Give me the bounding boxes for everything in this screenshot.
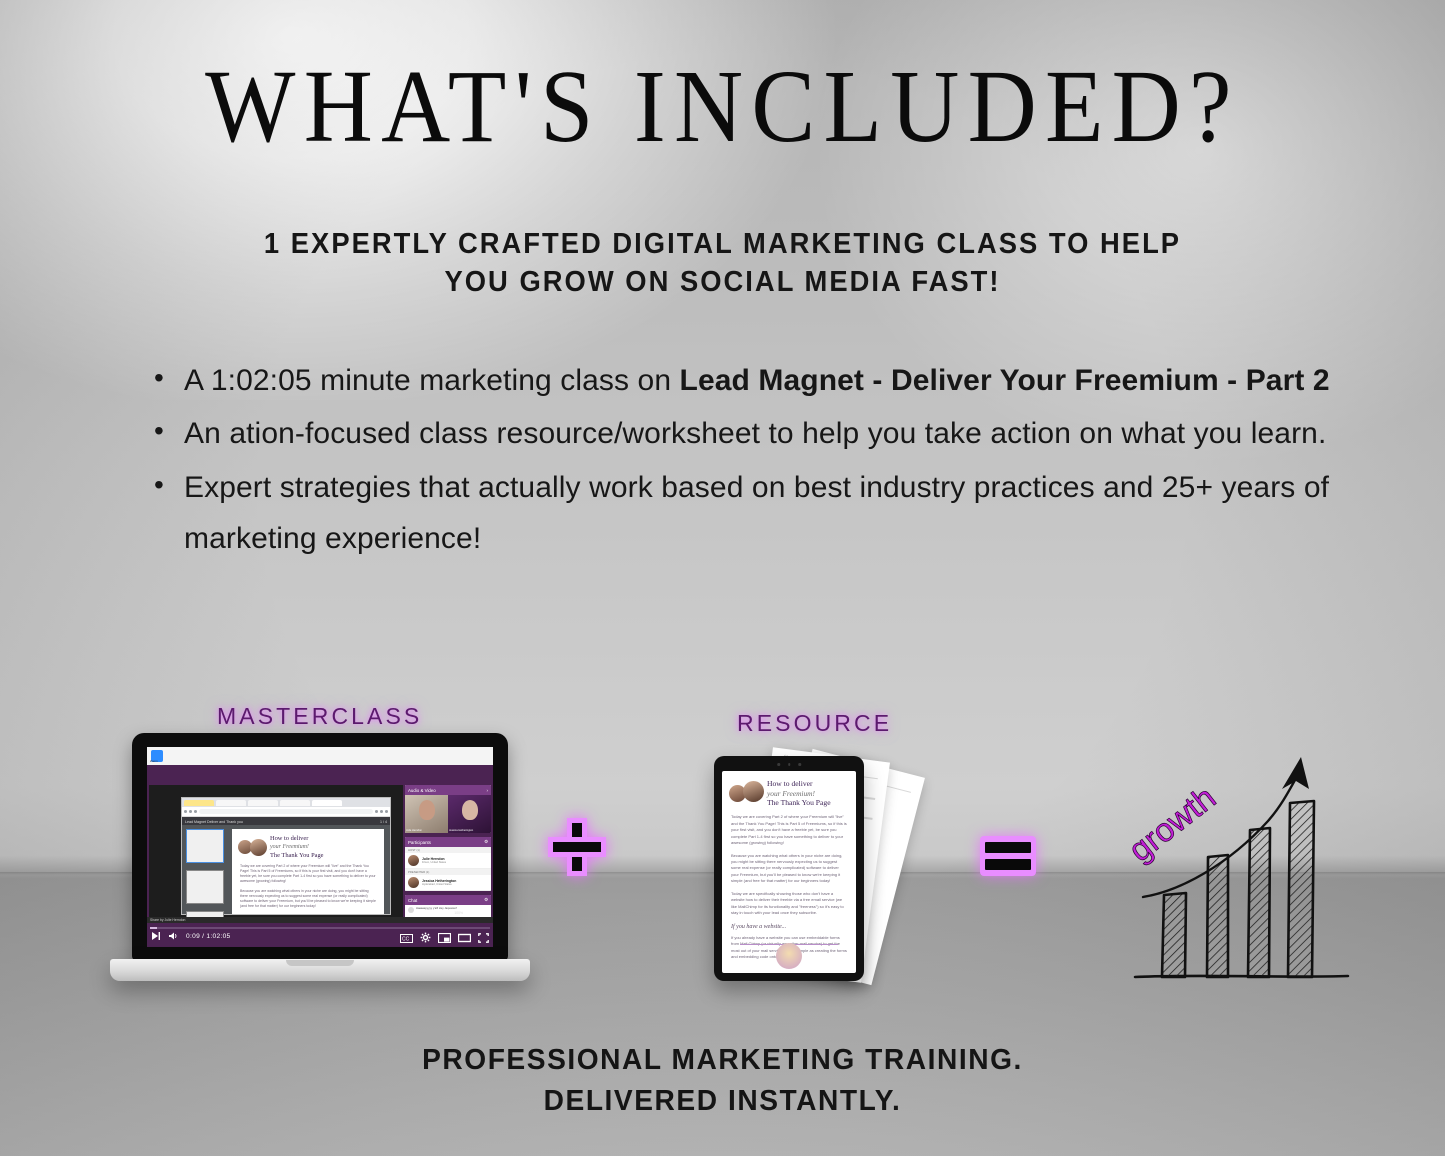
participant-face xyxy=(419,800,435,820)
bullet-text-plain: A 1:02:05 minute marketing class on xyxy=(184,364,680,397)
chart-annotation-growth: growth xyxy=(1122,778,1223,868)
pdf-title: Lead Magnet Deliver and Thank you xyxy=(185,820,243,824)
browser-tab[interactable] xyxy=(184,800,214,806)
feature-list: A 1:02:05 minute marketing class on Lead… xyxy=(148,355,1363,566)
list-item: A 1:02:05 minute marketing class on Lead… xyxy=(180,355,1363,406)
brand-logo xyxy=(776,943,802,969)
laptop-mockup: Zoom ID: 225-207-258 xyxy=(110,733,530,993)
tablet-screen: How to deliver your Freemium! The Thank … xyxy=(722,771,856,973)
closed-captions-icon[interactable]: CC xyxy=(400,930,413,947)
volume-icon[interactable] xyxy=(168,931,179,941)
label-resource: RESOURCE xyxy=(737,710,892,737)
panel-header: Participants ⚙ xyxy=(405,837,491,847)
video-tile-name: Julie Herndon xyxy=(406,829,422,832)
chart-bar xyxy=(1207,855,1228,977)
pdf-thumbnail-rail[interactable] xyxy=(182,825,232,914)
avatar xyxy=(408,855,419,866)
video-tile-host[interactable]: Julie Herndon xyxy=(405,795,448,833)
doc-header: How to deliver your Freemium! The Thank … xyxy=(232,829,384,862)
avatar xyxy=(408,907,414,913)
pdf-page: How to deliver your Freemium! The Thank … xyxy=(232,829,384,914)
equals-operator-icon xyxy=(980,836,1036,876)
pdf-viewer: How to deliver your Freemium! The Thank … xyxy=(182,825,390,914)
panel-title: Participants xyxy=(408,840,431,845)
app-name-label: Zoom xyxy=(150,759,158,763)
worksheet-header: How to deliver your Freemium! The Thank … xyxy=(722,771,856,811)
doc-title-line-2: The Thank You Page xyxy=(270,852,324,859)
avatar xyxy=(408,877,419,888)
worksheet-signature-line: If you have a website... xyxy=(722,920,856,932)
fullscreen-icon[interactable] xyxy=(478,930,489,947)
app-titlebar: Zoom xyxy=(147,747,493,765)
browser-tab-active[interactable] xyxy=(312,800,342,806)
chat-text: Haaaaayyyyy y'all! Hey Jaquaree!! xyxy=(416,907,457,913)
laptop-screen: Zoom ID: 225-207-258 xyxy=(147,747,493,947)
doc-title-script: your Freemium! xyxy=(270,844,309,850)
meeting-window: ID: 225-207-258 xyxy=(147,765,493,947)
plus-icon xyxy=(548,818,606,876)
chart-arrowhead xyxy=(1282,757,1309,789)
url-input[interactable] xyxy=(199,809,373,814)
browser-window: Lead Magnet Deliver and Thank you 1 / 4 xyxy=(181,797,391,915)
doc-paragraph: Today we are specifically showing those … xyxy=(232,912,384,915)
extension-icon[interactable] xyxy=(375,810,378,813)
worksheet-title-line-1: How to deliver xyxy=(767,779,813,788)
panel-audio-video: Audio & Video › Julie Herndon xyxy=(405,785,491,833)
picture-in-picture-icon[interactable] xyxy=(438,930,451,947)
reload-icon[interactable] xyxy=(194,810,197,813)
page-title: WHAT'S INCLUDED? xyxy=(58,52,1387,162)
bullet-text-plain: An ation-focused class resource/workshee… xyxy=(184,417,1326,450)
doc-paragraph: Because you are watching what others in … xyxy=(232,887,384,912)
subheadline-line-1: 1 EXPERTLY CRAFTED DIGITAL MARKETING CLA… xyxy=(144,226,1301,264)
poster-canvas: WHAT'S INCLUDED? 1 EXPERTLY CRAFTED DIGI… xyxy=(0,0,1445,1156)
worksheet-title-line-2: The Thank You Page xyxy=(767,798,831,807)
video-player-controls[interactable]: Share by Julie Herndon 100% 0:09 / 1:02:… xyxy=(147,923,493,947)
avatar xyxy=(743,781,764,802)
gear-icon[interactable]: ⚙ xyxy=(484,839,488,845)
footer-line-1: PROFESSIONAL MARKETING TRAINING. xyxy=(138,1040,1307,1081)
panel-title: Audio & Video xyxy=(408,788,436,793)
equals-icon xyxy=(980,836,1036,876)
worksheet-title-script: your Freemium! xyxy=(767,789,815,798)
participant-row[interactable]: Jessica Hetherington Hyderabad, United S… xyxy=(405,875,491,891)
pdf-thumbnail[interactable] xyxy=(186,870,224,904)
doc-title-line-1: How to deliver xyxy=(270,835,308,842)
theater-mode-icon[interactable] xyxy=(458,930,471,947)
back-icon[interactable] xyxy=(184,810,187,813)
chart-bar xyxy=(1288,801,1314,977)
footer-line-2: DELIVERED INSTANTLY. xyxy=(138,1081,1307,1122)
panel-collapse-icon[interactable]: › xyxy=(487,788,488,793)
player-time: 0:09 / 1:02:05 xyxy=(186,933,231,940)
zoom-level-label: 100% xyxy=(454,911,463,915)
participant-location: Frisco, United States xyxy=(422,861,446,864)
tablet-mockup: Q3 Text a flow of free email marketing s… xyxy=(700,748,910,998)
panel-header: Audio & Video › xyxy=(405,785,491,795)
profile-icon[interactable] xyxy=(380,810,383,813)
shared-screen-area: Lead Magnet Deliver and Thank you 1 / 4 xyxy=(149,785,403,923)
panel-header: Chat ⚙ xyxy=(405,895,491,905)
growth-chart: growth xyxy=(1110,745,1400,1000)
chat-message: Haaaaayyyyy y'all! Hey Jaquaree!! xyxy=(405,905,491,915)
subheadline-line-2: YOU GROW ON SOCIAL MEDIA FAST! xyxy=(144,264,1301,302)
label-masterclass: MASTERCLASS xyxy=(217,703,422,730)
doc-paragraph: Today we are covering Part 2 of where yo… xyxy=(232,862,384,887)
video-tile-name: Jessica Hetherington xyxy=(449,829,473,832)
bullet-text-bold: Lead Magnet - Deliver Your Freemium - Pa… xyxy=(680,364,1330,397)
doc-title: How to deliver your Freemium! The Thank … xyxy=(270,835,324,860)
browser-tab[interactable] xyxy=(216,800,246,806)
avatar xyxy=(250,839,267,856)
progress-bar[interactable] xyxy=(150,927,490,929)
participant-face xyxy=(462,800,478,820)
browser-address-bar[interactable] xyxy=(182,807,390,817)
bullet-text-plain: Expert strategies that actually work bas… xyxy=(184,471,1329,555)
tablet-body: How to deliver your Freemium! The Thank … xyxy=(714,756,864,981)
settings-gear-icon[interactable] xyxy=(420,930,431,947)
video-tiles: Julie Herndon Jessica Hetherington xyxy=(405,795,491,833)
progress-fill xyxy=(150,927,157,929)
browser-tabstrip[interactable] xyxy=(182,798,390,807)
growth-chart-svg: growth xyxy=(1110,745,1400,1000)
svg-text:CC: CC xyxy=(402,936,410,942)
player-right-controls: CC xyxy=(400,930,489,947)
list-item: An ation-focused class resource/workshee… xyxy=(180,408,1363,459)
video-tile-presenter[interactable]: Jessica Hetherington xyxy=(448,795,491,833)
laptop-base-notch xyxy=(286,960,354,966)
browser-tab[interactable] xyxy=(280,800,310,806)
pdf-thumbnail[interactable] xyxy=(186,829,224,863)
participant-location: Hyderabad, United States xyxy=(422,883,456,886)
meeting-side-rail: Audio & Video › Julie Herndon xyxy=(405,785,491,923)
play-icon[interactable] xyxy=(151,931,161,941)
list-item: Expert strategies that actually work bas… xyxy=(180,462,1363,565)
worksheet-paragraph: Because you are watching what others in … xyxy=(722,850,856,888)
pdf-page-indicator: 1 / 4 xyxy=(380,820,387,824)
browser-tab[interactable] xyxy=(248,800,278,806)
worksheet-title: How to deliver your Freemium! The Thank … xyxy=(767,779,831,808)
tablet-camera xyxy=(777,763,801,766)
laptop-lid: Zoom ID: 225-207-258 xyxy=(132,733,508,961)
menu-icon[interactable] xyxy=(385,810,388,813)
participant-row[interactable]: Julie Herndon Frisco, United States xyxy=(405,853,491,869)
plus-operator-icon xyxy=(548,818,606,876)
panel-title: Chat xyxy=(408,898,417,903)
worksheet-paragraph: Today we are specifically showing those … xyxy=(722,888,856,920)
chart-bar xyxy=(1162,893,1186,977)
panel-participants: Participants ⚙ HOST (1) Julie Herndon Fr… xyxy=(405,837,491,891)
forward-icon[interactable] xyxy=(189,810,192,813)
worksheet-paragraph: Today we are covering Part 2 of where yo… xyxy=(722,811,856,849)
chart-bar xyxy=(1248,828,1270,977)
subheadline: 1 EXPERTLY CRAFTED DIGITAL MARKETING CLA… xyxy=(144,226,1301,301)
share-attribution-bar: Share by Julie Herndon xyxy=(147,917,493,923)
footer-tagline: PROFESSIONAL MARKETING TRAINING. DELIVER… xyxy=(138,1040,1307,1122)
gear-icon[interactable]: ⚙ xyxy=(484,897,488,903)
player-left-controls: 0:09 / 1:02:05 xyxy=(151,931,231,941)
